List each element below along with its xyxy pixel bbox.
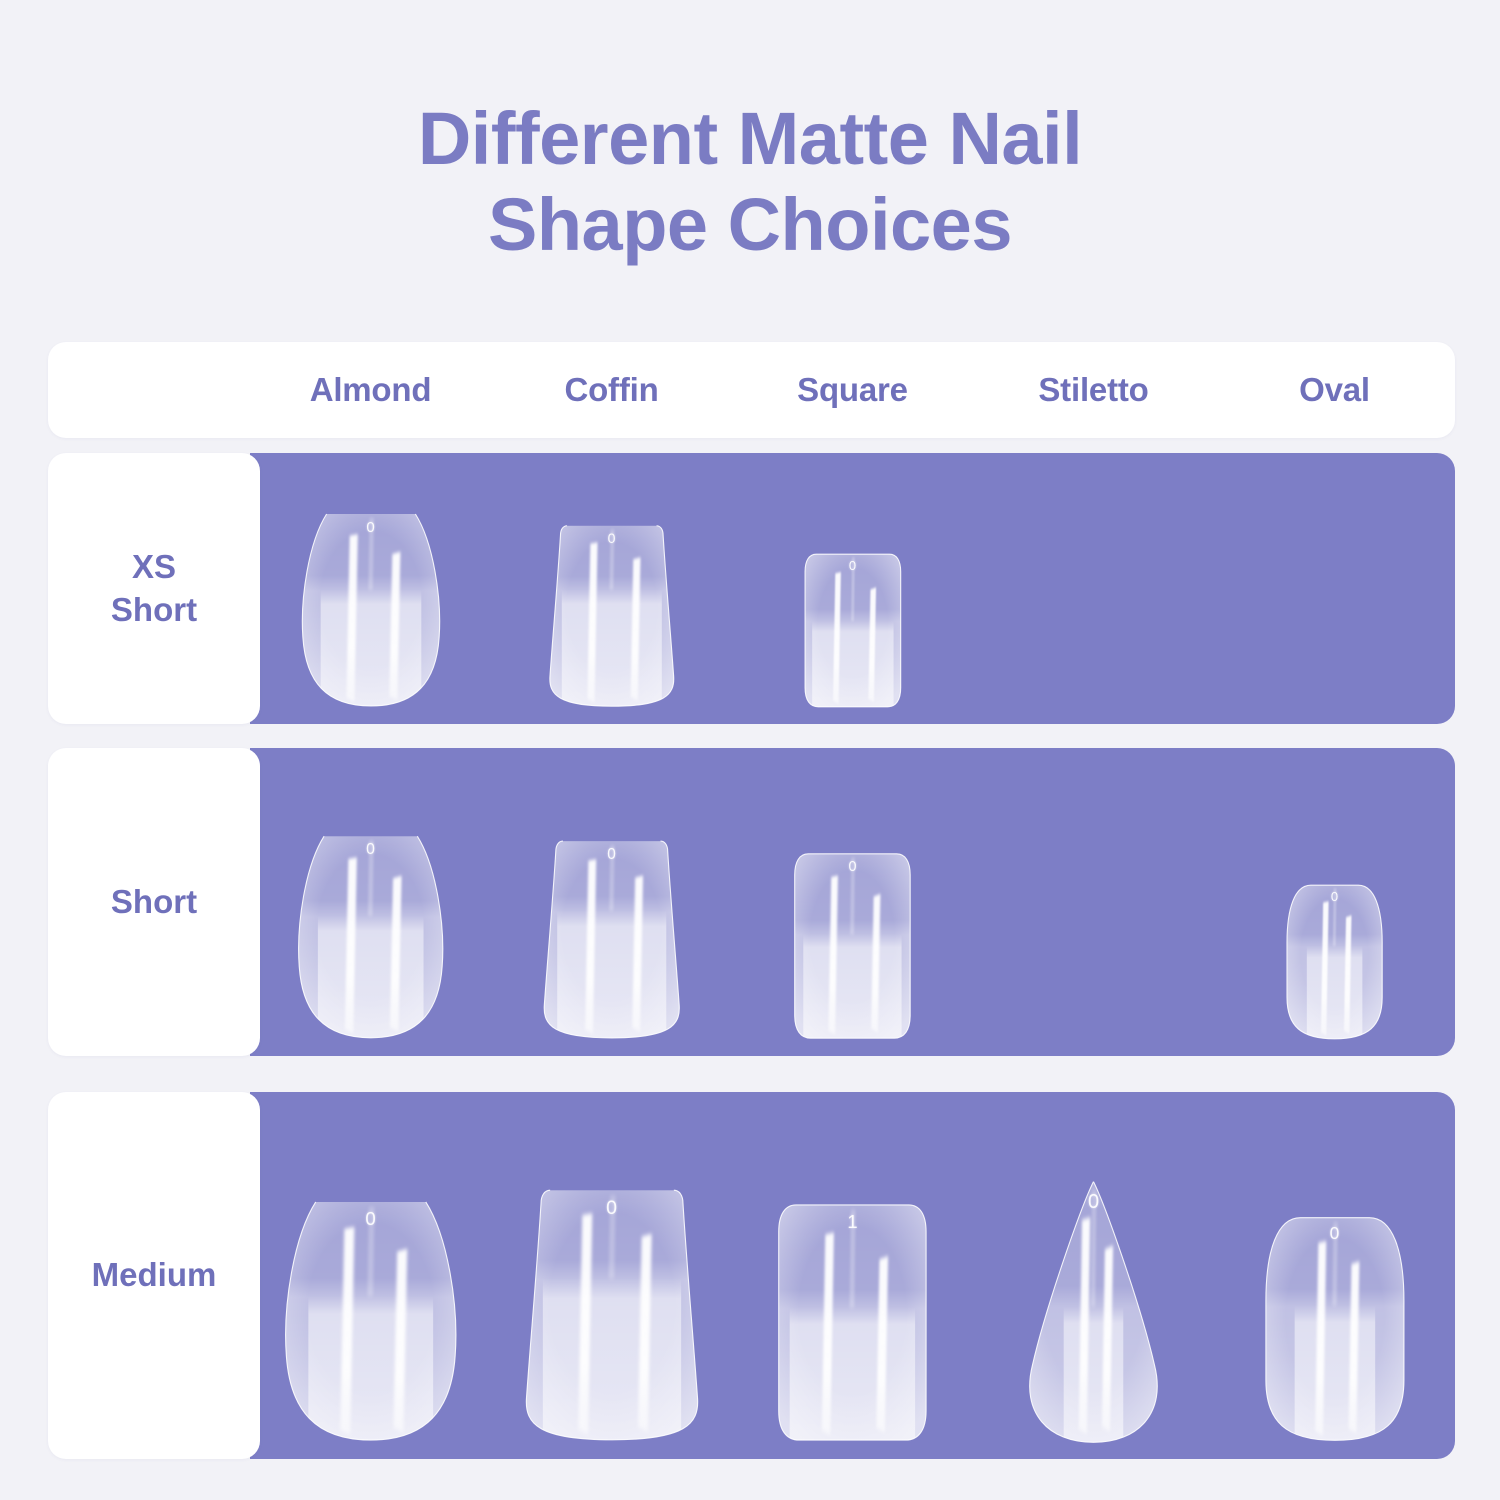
nail-tip-graphic-almond <box>293 832 448 1042</box>
nail-tip-square: 1 <box>774 1200 931 1445</box>
nail-tip-graphic-square <box>802 551 904 710</box>
cell-short-square[interactable]: 0 <box>732 748 973 1056</box>
nail-tip-almond: 0 <box>297 510 445 710</box>
row-cells: 0 <box>250 453 1455 724</box>
cell-medium-square[interactable]: 1 <box>732 1092 973 1459</box>
table-row: Short <box>48 748 1455 1056</box>
nail-tip-almond: 0 <box>279 1197 463 1445</box>
row-panel-xs-short: 0 <box>250 453 1455 724</box>
nail-tip-graphic-square <box>791 850 914 1042</box>
nail-tip-graphic-stiletto <box>1019 1179 1168 1445</box>
nail-tip-graphic-square <box>774 1200 931 1445</box>
page-title: Different Matte Nail Shape Choices <box>0 96 1500 268</box>
row-label-text: Medium <box>92 1254 217 1297</box>
row-label-short: Short <box>48 748 260 1056</box>
nail-tip-oval: 0 <box>1263 1213 1407 1445</box>
column-header-stiletto: Stiletto <box>973 371 1214 409</box>
cell-xs-short-almond[interactable]: 0 <box>250 453 491 724</box>
cell-short-stiletto <box>973 748 1214 1056</box>
cell-medium-coffin[interactable]: 0 <box>491 1092 732 1459</box>
row-panel-short: 0 <box>250 748 1455 1056</box>
nail-tip-stiletto: 0 <box>1019 1179 1168 1445</box>
row-panel-medium: 0 <box>250 1092 1455 1459</box>
cell-xs-short-stiletto <box>973 453 1214 724</box>
column-header-almond: Almond <box>250 371 491 409</box>
row-label-text: Short <box>111 881 197 924</box>
row-cells: 0 <box>250 1092 1455 1459</box>
cell-medium-almond[interactable]: 0 <box>250 1092 491 1459</box>
column-header-oval: Oval <box>1214 371 1455 409</box>
cell-xs-short-oval <box>1214 453 1455 724</box>
table-row: Medium <box>48 1092 1455 1459</box>
nail-tip-graphic-coffin <box>540 837 684 1042</box>
column-header-square: Square <box>732 371 973 409</box>
nail-tip-coffin: 0 <box>546 522 678 710</box>
nail-tip-square: 0 <box>802 551 904 710</box>
row-label-medium: Medium <box>48 1092 260 1459</box>
shape-header-card: Almond Coffin Square Stiletto Oval <box>48 342 1455 438</box>
cell-short-coffin[interactable]: 0 <box>491 748 732 1056</box>
table-row: XS Short <box>48 453 1455 724</box>
cell-short-oval[interactable]: 0 <box>1214 748 1455 1056</box>
row-label-xs-short: XS Short <box>48 453 260 724</box>
nail-tip-oval: 0 <box>1285 882 1384 1042</box>
nail-tip-graphic-coffin <box>521 1185 703 1445</box>
cell-xs-short-square[interactable]: 0 <box>732 453 973 724</box>
row-cells: 0 <box>250 748 1455 1056</box>
nail-tip-coffin: 0 <box>540 837 684 1042</box>
cell-medium-stiletto[interactable]: 0 <box>973 1092 1214 1459</box>
nail-tip-square: 0 <box>791 850 914 1042</box>
shape-header-row: Almond Coffin Square Stiletto Oval <box>250 342 1455 438</box>
nail-tip-coffin: 0 <box>521 1185 703 1445</box>
column-header-coffin: Coffin <box>491 371 732 409</box>
cell-short-almond[interactable]: 0 <box>250 748 491 1056</box>
cell-medium-oval[interactable]: 0 <box>1214 1092 1455 1459</box>
page-title-line-2: Shape Choices <box>0 182 1500 268</box>
cell-xs-short-coffin[interactable]: 0 <box>491 453 732 724</box>
nail-tip-graphic-almond <box>279 1197 463 1445</box>
page-title-line-1: Different Matte Nail <box>0 96 1500 182</box>
nail-tip-graphic-coffin <box>546 522 678 710</box>
nail-tip-graphic-almond <box>297 510 445 710</box>
nail-tip-almond: 0 <box>293 832 448 1042</box>
row-label-text: XS Short <box>111 546 197 632</box>
nail-tip-graphic-oval <box>1285 882 1384 1042</box>
nail-tip-graphic-oval <box>1263 1213 1407 1445</box>
